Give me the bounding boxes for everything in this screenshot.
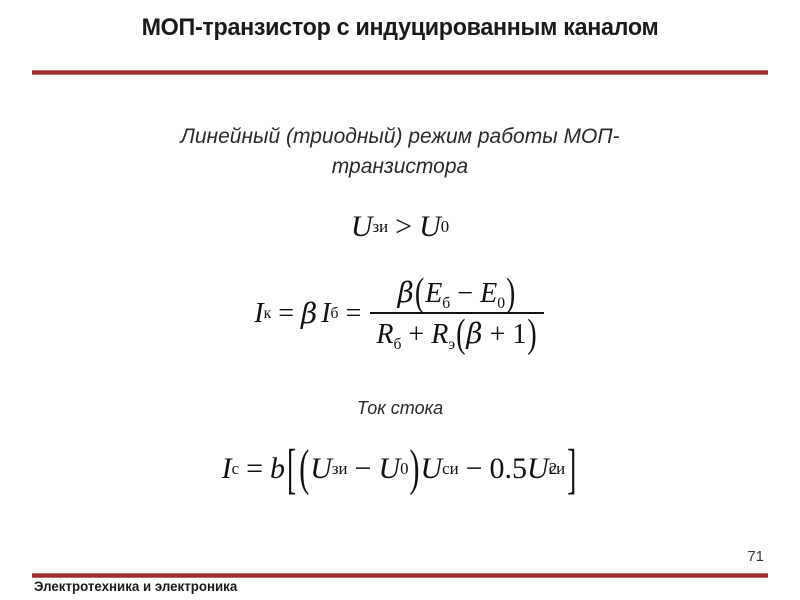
section-caption: Ток стока: [0, 398, 800, 419]
denominator-open-paren: (: [456, 312, 465, 358]
numerator-minus: −: [450, 278, 480, 309]
formula-condition-rhs-var: U: [419, 210, 441, 244]
numerator-beta: β: [398, 276, 414, 309]
drain-open-bracket: [: [287, 437, 296, 501]
formula-coefficient-b: b: [270, 452, 285, 486]
denominator-r2-sub: э: [448, 336, 455, 353]
page-number: 71: [747, 548, 764, 565]
formula-ib-var: I: [321, 298, 330, 330]
denominator-beta: β: [466, 317, 482, 350]
formula-beta-factor: β: [301, 297, 317, 330]
drain-u0-var: U: [378, 452, 400, 486]
formula-fraction-denominator: Rб+Rэ(β+1): [370, 314, 543, 351]
denominator-plus: +: [401, 319, 431, 350]
formula-eq-1: =: [271, 298, 301, 330]
numerator-open-paren: (: [415, 271, 424, 317]
formula-collector-current: Iк = β Iб = β(Eб−E0) Rб+Rэ(β+1): [0, 276, 800, 351]
formula-drain-eq: =: [239, 452, 270, 486]
formula-condition-lhs-var: U: [351, 210, 373, 244]
drain-half-coefficient: 0.5: [490, 452, 528, 486]
numerator-e1-var: E: [425, 278, 442, 309]
drain-ugs-var: U: [310, 452, 332, 486]
denominator-r1-var: R: [376, 319, 393, 350]
numerator-e2-sub: 0: [497, 295, 505, 312]
subtitle-line-1: Линейный (триодный) режим работы МОП-: [180, 125, 619, 148]
drain-minus-1: −: [348, 452, 379, 486]
formula-eq-2: =: [339, 298, 369, 330]
drain-uds2-var: U: [527, 452, 549, 486]
formula-is-var: I: [222, 452, 232, 486]
denominator-r2-var: R: [431, 319, 448, 350]
denominator-one: 1: [512, 319, 526, 350]
denominator-plus-2: +: [483, 319, 513, 350]
footer-course-title: Электротехника и электроника: [34, 578, 237, 594]
formula-fraction: β(Eб−E0) Rб+Rэ(β+1): [370, 276, 543, 351]
drain-open-paren: (: [299, 440, 309, 498]
subtitle-line-2: транзистора: [332, 155, 468, 178]
page-title: МОП-транзистор с индуцированным каналом: [12, 14, 788, 42]
formula-condition: Uзи > U0: [0, 210, 800, 244]
formula-fraction-numerator: β(Eб−E0): [392, 276, 523, 312]
drain-uds-var: U: [421, 452, 443, 486]
subtitle: Линейный (триодный) режим работы МОП- тр…: [120, 122, 680, 182]
numerator-e2-var: E: [480, 278, 497, 309]
formula-ik-var: I: [254, 298, 263, 330]
header-divider-rule: [32, 70, 768, 75]
denominator-close-paren: ): [527, 312, 536, 358]
drain-close-bracket: ]: [567, 437, 576, 501]
numerator-close-paren: ): [506, 271, 515, 317]
drain-close-paren: ): [410, 440, 420, 498]
drain-minus-2: −: [459, 452, 490, 486]
formula-condition-relation: >: [388, 210, 419, 244]
formula-drain-current: Iс = b [ ( Uзи − U0 ) Uси − 0.5U2си ]: [0, 452, 800, 486]
